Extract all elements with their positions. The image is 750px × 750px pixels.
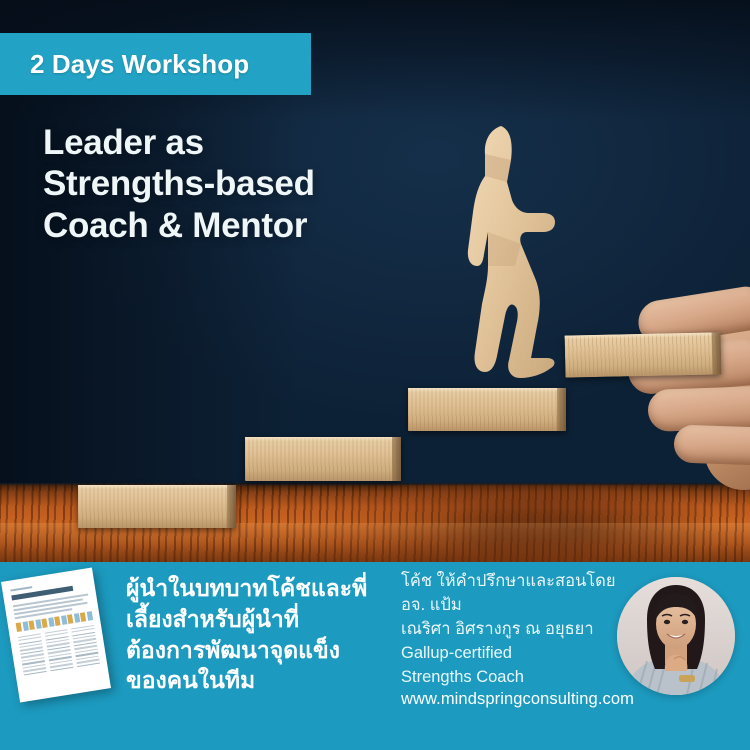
block-side-edge [392,437,401,481]
step-block-1 [78,485,236,528]
footer-panel: ผู้นำในบทบาทโค้ชและพี่ เลี้ยงสำหรับผู้นำ… [0,562,750,750]
poster-canvas: 2 Days Workshop Leader as Strengths-base… [0,0,750,750]
block-top-edge [78,485,236,489]
workshop-ribbon: 2 Days Workshop [0,33,311,95]
sheet-column [18,633,47,678]
coach-portrait-avatar [617,577,735,695]
strengths-report-document-icon [1,568,111,703]
block-face [245,437,401,481]
sheet-column [44,629,73,674]
coach-info: โค้ช ให้คำปรึกษาและสอนโดย อจ. แป้ม เณริศ… [401,570,651,690]
block-side-edge [712,332,722,374]
block-side-edge [227,485,236,528]
thai-line-1: ผู้นำในบทบาทโค้ชและพี่ [126,573,388,604]
little-finger [673,424,750,465]
block-top-edge [245,437,401,441]
coach-line-2: อจ. แป้ม [401,594,651,618]
coach-line-5: Strengths Coach [401,666,651,690]
hand-placing-block-icon [612,300,750,490]
block-face [565,332,722,377]
title-line-1: Leader as [43,122,463,163]
footer-thai-headline: ผู้นำในบทบาทโค้ชและพี่ เลี้ยงสำหรับผู้นำ… [126,573,388,696]
title-line-2: Strengths-based [43,163,463,204]
thai-line-2: เลี้ยงสำหรับผู้นำที่ [126,604,388,635]
floor-reflection [0,523,750,562]
sheet-column [71,625,100,670]
ribbon-label: 2 Days Workshop [0,49,249,80]
coach-line-3: เณริศา อิศรางกูร ณ อยุธยา [401,618,651,642]
coach-line-1: โค้ช ให้คำปรึกษาและสอนโดย [401,570,651,594]
block-face [408,388,566,431]
sheet-tag [10,586,32,591]
step-block-2 [245,437,401,481]
thai-line-3: ต้องการพัฒนาจุดแข็ง [126,635,388,666]
thai-line-4: ของคนในทีม [126,665,388,696]
coach-line-4: Gallup-certified [401,642,651,666]
sheet-columns [18,625,101,678]
step-block-4 [565,332,722,377]
page-title: Leader as Strengths-based Coach & Mentor [43,122,463,246]
step-block-3 [408,388,566,431]
block-side-edge [557,388,566,431]
wooden-man-climbing-steps-icon [455,120,575,390]
website-url[interactable]: www.mindspringconsulting.com [401,690,634,709]
block-face [78,485,236,528]
title-line-3: Coach & Mentor [43,205,463,246]
hero-scene: 2 Days Workshop Leader as Strengths-base… [0,0,750,562]
